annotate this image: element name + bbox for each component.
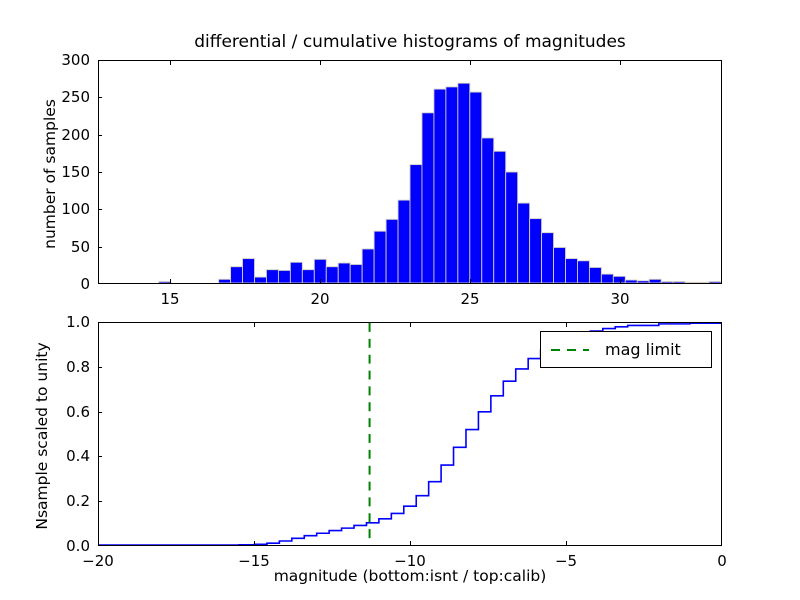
- top-x-tickmark-15: [170, 279, 171, 283]
- top-x-tick-label-30: 30: [610, 290, 629, 308]
- chart-title: differential / cumulative histograms of …: [98, 32, 722, 52]
- histogram-bar: [470, 92, 482, 283]
- histogram-bar: [649, 279, 661, 283]
- histogram-bar: [685, 282, 697, 283]
- top-y-tickmark-50: [98, 247, 102, 248]
- differential-histogram-axes: [98, 60, 722, 284]
- histogram-bar: [637, 281, 649, 283]
- top-axis-y-label: number of samples: [41, 62, 59, 286]
- histogram-bar: [601, 274, 613, 283]
- histogram-bar: [422, 113, 434, 283]
- top-x-tick-label-20: 20: [310, 290, 329, 308]
- histogram-bar: [398, 200, 410, 283]
- histogram-bar: [566, 259, 578, 283]
- histogram-bar: [589, 267, 601, 283]
- histogram-bar: [338, 263, 350, 283]
- histogram-bar: [625, 280, 637, 283]
- top-y-tickmark-250: [98, 97, 102, 98]
- histogram-bar: [219, 279, 231, 283]
- histogram-bar: [374, 231, 386, 283]
- histogram-bar: [577, 261, 589, 283]
- bottom-x-tickmark-1: [254, 541, 255, 545]
- top-x-tickmark-20: [320, 279, 321, 283]
- histogram-bar: [243, 259, 255, 283]
- histogram-bar: [362, 249, 374, 283]
- histogram-bar: [661, 282, 673, 283]
- histogram-bar: [458, 83, 470, 283]
- bottom-axis-x-label: magnitude (bottom:isnt / top:calib): [98, 567, 722, 585]
- legend[interactable]: mag limit: [540, 331, 712, 368]
- histogram-bar: [266, 270, 278, 283]
- bottom-x-tickmark-2: [410, 541, 411, 545]
- top-x-tickmark-25: [470, 279, 471, 283]
- bottom-y-tick-label-1: 0.2: [52, 492, 90, 510]
- histogram-bar: [697, 282, 709, 283]
- top-x-tickmark-upper-20: [320, 61, 321, 65]
- top-x-tickmark-upper-25: [470, 61, 471, 65]
- bottom-y-tick-label-3: 0.6: [52, 403, 90, 421]
- histogram-bar: [518, 203, 530, 283]
- differential-histogram-plot: [99, 61, 721, 283]
- histogram-bar: [542, 233, 554, 283]
- figure-canvas: differential / cumulative histograms of …: [0, 0, 800, 600]
- histogram-bar: [231, 267, 243, 283]
- bottom-axis-y-label: Nsample scaled to unity: [33, 324, 51, 548]
- mag-limit-dashed-line-icon: [551, 349, 589, 351]
- histogram-bar: [506, 172, 518, 283]
- histogram-bar: [494, 151, 506, 283]
- histogram-bar: [446, 87, 458, 283]
- top-x-tickmark-30: [620, 279, 621, 283]
- bottom-y-tickmark-3: [98, 412, 102, 413]
- top-x-tickmark-upper-30: [620, 61, 621, 65]
- bottom-x-tickmark-upper-3: [566, 323, 567, 327]
- top-y-tickmark-200: [98, 135, 102, 136]
- histogram-bar: [410, 165, 422, 283]
- histogram-bar: [159, 282, 171, 283]
- histogram-bar: [255, 277, 267, 283]
- bottom-y-tickmark-4: [98, 367, 102, 368]
- histogram-bar: [278, 270, 290, 283]
- bottom-y-tick-label-5: 1.0: [52, 313, 90, 331]
- bottom-y-tickmark-2: [98, 456, 102, 457]
- bottom-y-tick-label-2: 0.4: [52, 447, 90, 465]
- histogram-bar: [350, 264, 362, 283]
- bottom-x-tickmark-upper-2: [410, 323, 411, 327]
- histogram-bar: [326, 267, 338, 283]
- top-x-tickmark-upper-15: [170, 61, 171, 65]
- bottom-y-tickmark-1: [98, 501, 102, 502]
- histogram-bar: [673, 282, 685, 283]
- top-x-tick-label-15: 15: [160, 290, 179, 308]
- histogram-bar: [386, 219, 398, 283]
- top-y-tickmark-150: [98, 172, 102, 173]
- histogram-bar: [530, 219, 542, 283]
- legend-label-mag-limit: mag limit: [605, 340, 681, 359]
- bottom-x-tickmark-3: [566, 541, 567, 545]
- bottom-x-tickmark-upper-1: [254, 323, 255, 327]
- histogram-bar: [709, 282, 721, 283]
- histogram-bar: [482, 138, 494, 283]
- top-x-tick-label-25: 25: [460, 290, 479, 308]
- histogram-bar: [302, 270, 314, 283]
- histogram-bar: [554, 247, 566, 283]
- histogram-bar: [290, 262, 302, 283]
- top-y-tickmark-100: [98, 209, 102, 210]
- histogram-bar: [434, 89, 446, 283]
- bottom-y-tick-label-4: 0.8: [52, 358, 90, 376]
